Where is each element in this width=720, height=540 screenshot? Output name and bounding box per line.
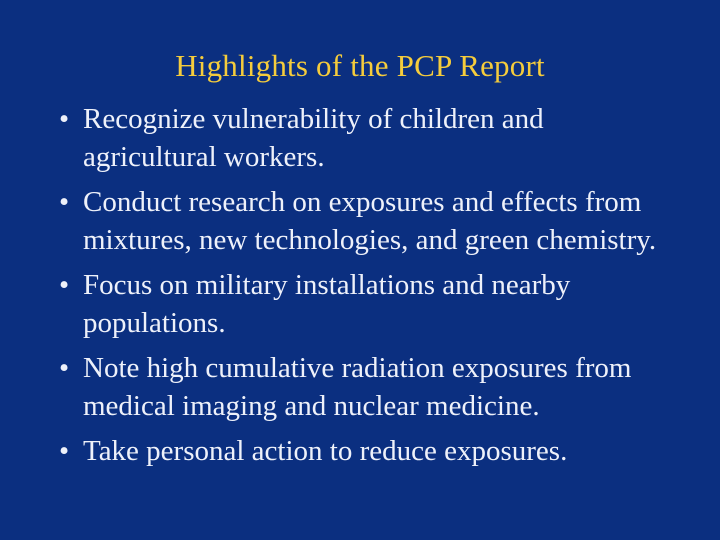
presentation-slide: Highlights of the PCP Report • Recognize… [0, 0, 720, 540]
list-item: • Take personal action to reduce exposur… [56, 432, 680, 470]
list-item-label: Conduct research on exposures and effect… [83, 183, 680, 259]
list-item-label: Focus on military installations and near… [83, 266, 680, 342]
page-title: Highlights of the PCP Report [0, 48, 720, 84]
list-item-label: Recognize vulnerability of children and … [83, 100, 680, 176]
list-item: • Conduct research on exposures and effe… [56, 183, 680, 259]
list-item-label: Take personal action to reduce exposures… [83, 432, 680, 470]
bullet-point-icon: • [59, 183, 79, 221]
list-item: • Focus on military installations and ne… [56, 266, 680, 342]
bullet-point-icon: • [59, 100, 79, 138]
bullet-point-icon: • [59, 432, 79, 470]
list-item-label: Note high cumulative radiation exposures… [83, 349, 680, 425]
list-item: • Recognize vulnerability of children an… [56, 100, 680, 176]
bullet-point-icon: • [59, 266, 79, 304]
bullet-list: • Recognize vulnerability of children an… [56, 100, 680, 470]
list-item: • Note high cumulative radiation exposur… [56, 349, 680, 425]
bullet-point-icon: • [59, 349, 79, 387]
